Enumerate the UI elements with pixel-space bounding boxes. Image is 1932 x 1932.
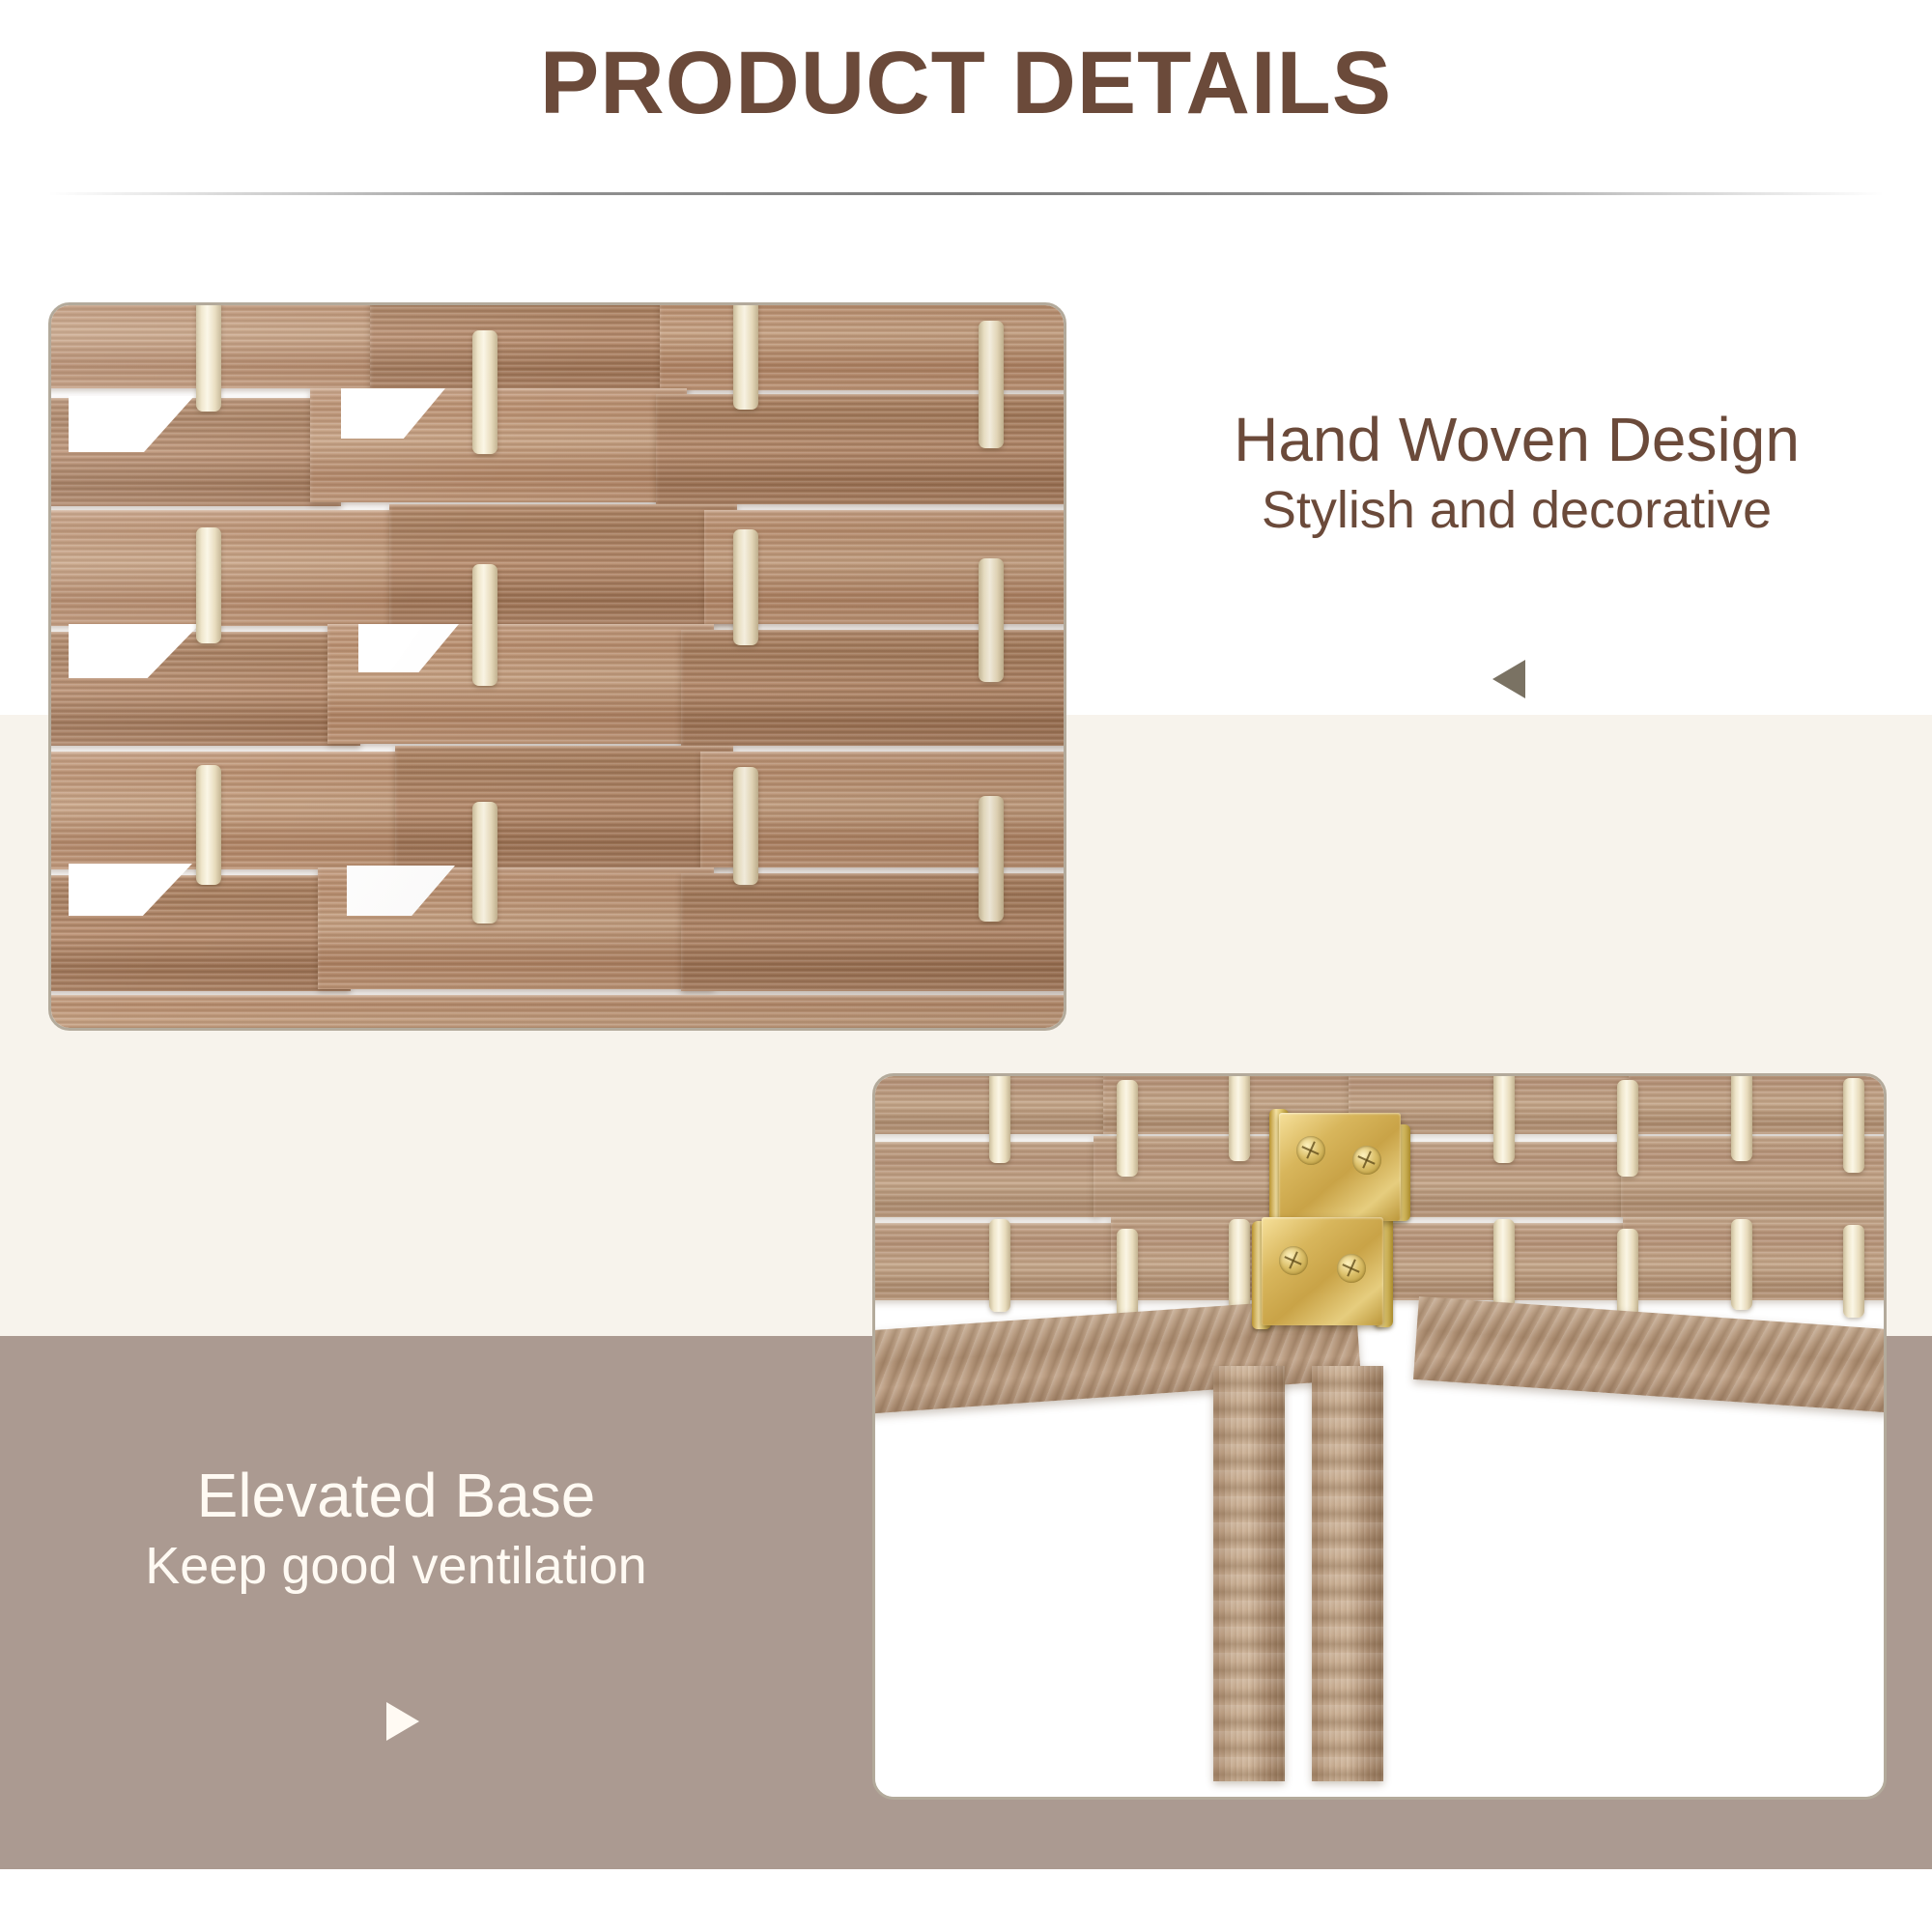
brass-hinge-plate <box>1279 1113 1401 1221</box>
weave-strap <box>389 504 737 624</box>
weave-dowel <box>733 767 758 885</box>
hinge-panel-dowel <box>1229 1073 1250 1161</box>
hinge-panel-dowel <box>1117 1229 1138 1321</box>
hinge-screw <box>1352 1146 1381 1175</box>
title-divider <box>48 192 1884 195</box>
hinge-panel-dowel <box>989 1219 1010 1312</box>
feature-subtitle-elevated-base: Keep good ventilation <box>58 1535 734 1598</box>
hinge-screw <box>1296 1136 1325 1165</box>
weave-dowel <box>733 302 758 410</box>
arrow-right-icon <box>386 1702 419 1741</box>
feature-elevated-base: Elevated Base Keep good ventilation <box>58 1462 734 1597</box>
weave-strap <box>48 995 1066 1031</box>
weave-strap <box>48 510 418 626</box>
hinge-panel-dowel <box>1493 1219 1515 1312</box>
hinge-panel-dowel <box>1229 1219 1250 1310</box>
weave-dowel <box>196 527 221 643</box>
weave-strap <box>681 630 1066 746</box>
feature-title-elevated-base: Elevated Base <box>58 1462 734 1531</box>
woven-panel-photo <box>48 302 1066 1031</box>
feature-title-hand-woven: Hand Woven Design <box>1150 406 1884 475</box>
weave-dowel <box>472 802 497 923</box>
hinge-screw <box>1279 1246 1308 1275</box>
page-title: PRODUCT DETAILS <box>0 37 1932 130</box>
weave-strap <box>656 394 1066 504</box>
weave-strap <box>681 873 1066 991</box>
elevated-leg <box>1213 1366 1285 1781</box>
weave-strap <box>660 302 1066 390</box>
weave-strap <box>370 302 689 390</box>
hinge-screw <box>1337 1254 1366 1283</box>
hinge-panel-dowel <box>989 1073 1010 1163</box>
hinge-panel-dowel <box>1731 1219 1752 1310</box>
hinge-and-legs-artwork <box>875 1076 1884 1797</box>
weave-dowel <box>472 330 497 454</box>
hinge-panel-dowel <box>1493 1073 1515 1163</box>
weave-dowel <box>733 529 758 645</box>
weave-dowel <box>979 558 1004 682</box>
hinge-panel-dowel <box>1731 1073 1752 1161</box>
hinge-and-legs-photo <box>872 1073 1887 1800</box>
elevated-leg <box>1312 1366 1383 1781</box>
weave-strap <box>704 510 1066 624</box>
weave-dowel <box>472 564 497 686</box>
hinge-panel-dowel <box>1117 1080 1138 1177</box>
hinge-panel-dowel <box>1843 1225 1864 1318</box>
woven-panel-artwork <box>51 305 1064 1028</box>
arrow-left-icon <box>1492 660 1525 698</box>
hinge-panel-dowel <box>1617 1229 1638 1321</box>
background-band-bottom <box>0 1869 1932 1932</box>
hinge-panel-dowel <box>1617 1080 1638 1177</box>
weave-strap <box>48 302 399 388</box>
hinge-panel-dowel <box>1843 1078 1864 1173</box>
weave-dowel <box>196 302 221 412</box>
bottom-rail <box>1413 1296 1887 1415</box>
weave-dowel <box>979 321 1004 448</box>
weave-dowel <box>979 796 1004 922</box>
feature-subtitle-hand-woven: Stylish and decorative <box>1150 479 1884 542</box>
weave-strap <box>48 752 428 869</box>
weave-strap <box>395 746 733 867</box>
weave-dowel <box>196 765 221 885</box>
header: PRODUCT DETAILS <box>0 0 1932 203</box>
feature-hand-woven-design: Hand Woven Design Stylish and decorative <box>1150 406 1884 541</box>
hinge-panel-strap <box>872 1142 1097 1217</box>
